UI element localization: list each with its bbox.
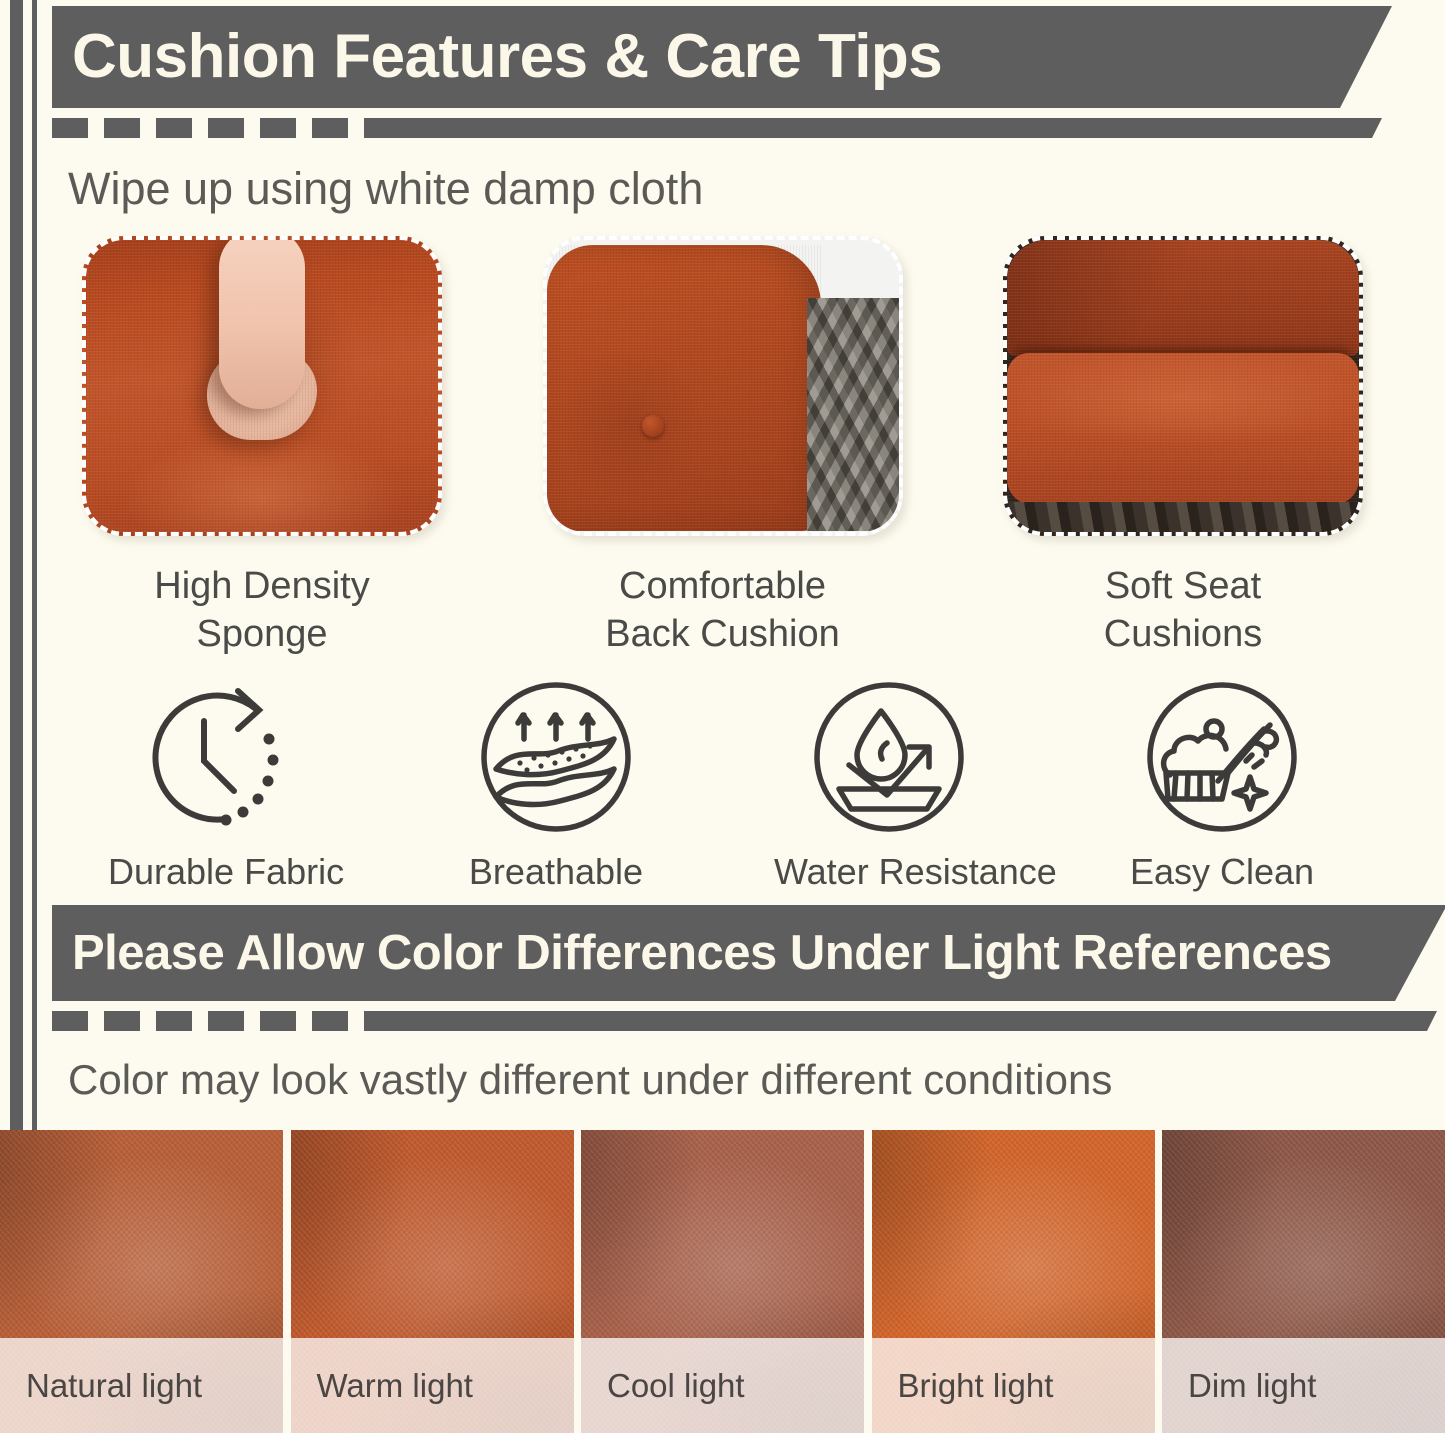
breathable-fabric-icon: [441, 677, 671, 837]
swatch-label: Bright light: [872, 1367, 1054, 1405]
caption-line-2: Cushions: [1003, 610, 1363, 659]
divider-solid: [364, 118, 1382, 138]
photo-soft-seat-cushions: [1003, 236, 1363, 536]
swatch-label: Dim light: [1162, 1367, 1316, 1405]
swatch-label: Warm light: [291, 1367, 473, 1405]
back-cushion-shape: [1007, 240, 1359, 357]
feature-photo-cell: Comfortable Back Cushion: [543, 236, 903, 659]
divider-dash: [52, 118, 88, 138]
wicker-texture: [807, 298, 899, 532]
icon-label: Breathable: [441, 851, 671, 893]
feature-icon-cell: Easy Clean: [1107, 677, 1337, 893]
swatch-label-strip: Warm light: [291, 1338, 574, 1433]
fabric-weave-overlay: [1007, 240, 1359, 357]
divider-dash: [104, 1011, 140, 1031]
fabric-weave-overlay: [547, 245, 822, 531]
back-cushion-shape: [547, 245, 822, 531]
caption-line-2: Sponge: [82, 610, 442, 659]
swatch-label: Cool light: [581, 1367, 745, 1405]
section1-divider: [52, 118, 1382, 138]
section2-divider: [52, 1011, 1437, 1031]
caption-line-1: Comfortable: [543, 562, 903, 611]
divider-dash: [156, 118, 192, 138]
feature-photo-cell: Soft Seat Cushions: [1003, 236, 1363, 659]
swatch-label-strip: Cool light: [581, 1338, 864, 1433]
section-color-reference: Please Allow Color Differences Under Lig…: [0, 905, 1445, 1103]
swatch-label-strip: Bright light: [872, 1338, 1155, 1433]
photo-caption: Soft Seat Cushions: [1003, 562, 1363, 659]
icon-label: Easy Clean: [1107, 851, 1337, 893]
color-swatch: Bright light: [872, 1130, 1155, 1433]
feature-icon-row: Durable Fabric: [0, 659, 1445, 893]
section2-banner: Please Allow Color Differences Under Lig…: [52, 905, 1445, 1001]
feature-icon-cell: Durable Fabric: [108, 677, 338, 893]
feature-icon-cell: Breathable: [441, 677, 671, 893]
wicker-base: [1007, 502, 1359, 531]
swatch-label-strip: Dim light: [1162, 1338, 1445, 1433]
photo-caption: High Density Sponge: [82, 562, 442, 659]
divider-dash: [260, 1011, 296, 1031]
photo-caption: Comfortable Back Cushion: [543, 562, 903, 659]
section1-banner-title: Cushion Features & Care Tips: [52, 26, 942, 88]
section1-banner: Cushion Features & Care Tips: [52, 6, 1392, 108]
fabric-weave-overlay: [86, 240, 438, 532]
feature-photo-cell: High Density Sponge: [82, 236, 442, 659]
divider-dash: [104, 118, 140, 138]
caption-line-2: Back Cushion: [543, 610, 903, 659]
photo-high-density-sponge: [82, 236, 442, 536]
color-swatch: Natural light: [0, 1130, 283, 1433]
section2-banner-title: Please Allow Color Differences Under Lig…: [52, 929, 1332, 978]
scrub-brush-icon: [1107, 677, 1337, 837]
water-droplet-repel-icon: [774, 677, 1004, 837]
divider-dash: [208, 1011, 244, 1031]
color-swatch: Dim light: [1162, 1130, 1445, 1433]
feature-photo-row: High Density Sponge Comfortable Back Cus…: [0, 214, 1445, 659]
caption-line-1: High Density: [82, 562, 442, 611]
divider-dash: [312, 1011, 348, 1031]
section1-subheading: Wipe up using white damp cloth: [68, 138, 1445, 214]
cushion-button: [642, 415, 664, 437]
fabric-weave-overlay: [1007, 353, 1359, 505]
icon-label: Durable Fabric: [108, 851, 338, 893]
color-swatch-row: Natural light Warm light Cool light Brig…: [0, 1130, 1445, 1433]
photo-comfortable-back-cushion: [543, 236, 903, 536]
divider-dash: [312, 118, 348, 138]
seat-cushion-shape: [1007, 353, 1359, 505]
divider-solid: [364, 1011, 1437, 1031]
divider-dash: [208, 118, 244, 138]
icon-label: Water Resistance: [774, 851, 1004, 893]
clock-arrow-icon: [108, 677, 338, 837]
divider-dash: [260, 118, 296, 138]
caption-line-1: Soft Seat: [1003, 562, 1363, 611]
feature-icon-cell: Water Resistance: [774, 677, 1004, 893]
color-swatch: Cool light: [581, 1130, 864, 1433]
divider-dash: [156, 1011, 192, 1031]
section-features: Cushion Features & Care Tips Wipe up usi…: [0, 0, 1445, 893]
divider-dash: [52, 1011, 88, 1031]
swatch-label-strip: Natural light: [0, 1338, 283, 1433]
color-swatch: Warm light: [291, 1130, 574, 1433]
section2-subheading: Color may look vastly different under di…: [68, 1031, 1445, 1103]
swatch-label: Natural light: [0, 1367, 202, 1405]
